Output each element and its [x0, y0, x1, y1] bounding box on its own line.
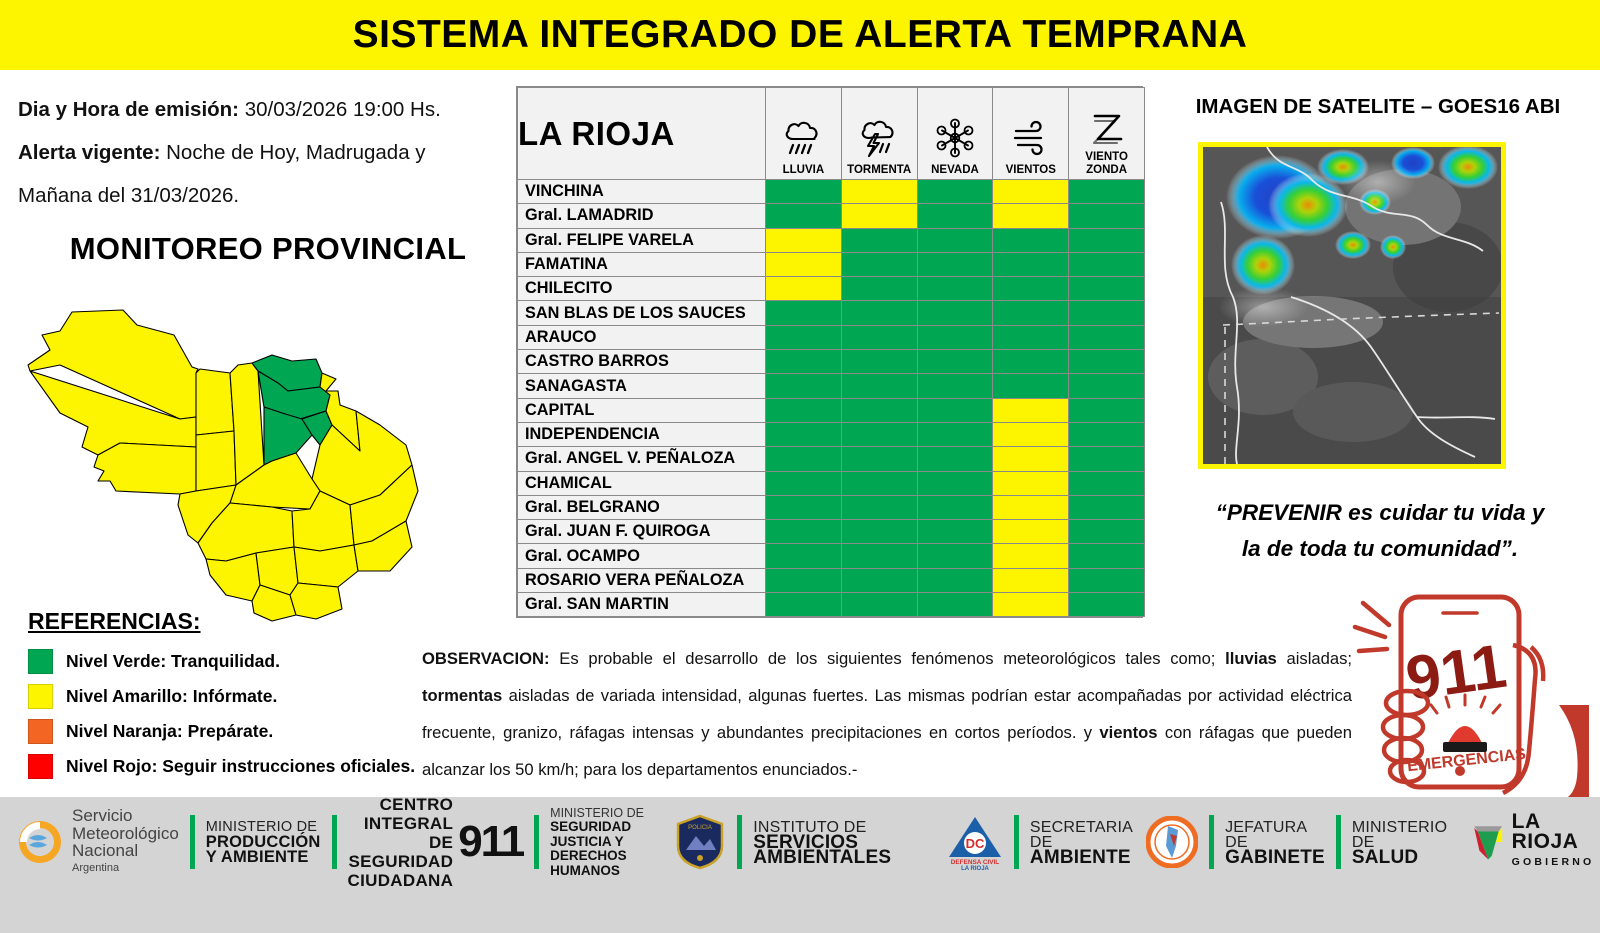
table-row: CHILECITO	[518, 277, 1145, 301]
emission-label: Dia y Hora de emisión:	[18, 98, 239, 121]
alert-cell-storm	[841, 568, 917, 592]
column-label-tormenta: TORMENTA	[847, 164, 911, 177]
legend-swatch-rojo	[28, 754, 53, 779]
la-rioja-map-svg	[20, 295, 440, 625]
cic-line-1: CENTRO INTEGRAL	[348, 795, 454, 833]
alert-cell-rain	[766, 374, 842, 398]
logo-ministerio-seguridad-justicia-ddhh: MINISTERIO DE SEGURIDAD JUSTICIA Y DEREC…	[550, 807, 660, 877]
alert-cell-wind	[993, 398, 1069, 422]
alert-cell-wind	[993, 593, 1069, 617]
alert-cell-rain	[766, 228, 842, 252]
alert-cell-snow	[917, 422, 993, 446]
smn-line-3: Nacional	[72, 842, 179, 860]
alert-cell-wind	[993, 422, 1069, 446]
msj-line-1: MINISTERIO DE	[550, 806, 660, 821]
alert-cell-wind	[993, 520, 1069, 544]
table-row: ARAUCO	[518, 325, 1145, 349]
alert-cell-rain	[766, 447, 842, 471]
legend-label-verde: Nivel Verde: Tranquilidad.	[66, 651, 280, 672]
page-title-bar: SISTEMA INTEGRADO DE ALERTA TEMPRANA	[0, 0, 1600, 70]
logo-defensa-civil-la-rioja: DC DEFENSA CIVIL LA RIOJA	[947, 807, 1003, 877]
department-name: SANAGASTA	[518, 374, 766, 398]
alert-validity-value-1: Noche de Hoy, Madrugada y	[166, 141, 425, 164]
logo-instituto-servicios-ambientales: INSTITUTO DE SERVICIOS AMBIENTALES	[753, 807, 935, 877]
alert-cell-zonda-wind	[1069, 204, 1145, 228]
defensa-civil-icon: DC DEFENSA CIVIL LA RIOJA	[947, 813, 1003, 871]
smn-line-4: Argentina	[72, 860, 179, 878]
lrg-line-1: LA RIOJA	[1512, 812, 1600, 852]
alert-cell-snow	[917, 568, 993, 592]
phone-911-icon: 911 EMERGENCIAS	[1345, 585, 1595, 800]
table-header-row: LA RIOJA	[518, 88, 1145, 180]
department-name: CAPITAL	[518, 398, 766, 422]
msj-line-3: JUSTICIA Y	[550, 835, 660, 850]
alert-cell-snow	[917, 228, 993, 252]
table-row: Gral. LAMADRID	[518, 204, 1145, 228]
rain-icon	[780, 115, 826, 161]
department-name: CASTRO BARROS	[518, 350, 766, 374]
alert-cell-storm	[841, 471, 917, 495]
logo-escudo-la-rioja	[1146, 807, 1198, 877]
la-rioja-gobierno-icon	[1469, 818, 1507, 866]
divider	[1014, 815, 1019, 869]
alert-cell-snow	[917, 495, 993, 519]
alert-cell-wind	[993, 301, 1069, 325]
alert-cell-rain	[766, 204, 842, 228]
alert-cell-wind	[993, 374, 1069, 398]
alert-cell-zonda-wind	[1069, 471, 1145, 495]
alert-cell-zonda-wind	[1069, 374, 1145, 398]
alert-cell-storm	[841, 520, 917, 544]
department-name: Gral. FELIPE VARELA	[518, 228, 766, 252]
department-name: SAN BLAS DE LOS SAUCES	[518, 301, 766, 325]
alert-cell-storm	[841, 252, 917, 276]
column-vientos: VIENTOS	[993, 88, 1069, 180]
alert-cell-zonda-wind	[1069, 398, 1145, 422]
legend-item: Nivel Rojo: Seguir instrucciones oficial…	[28, 749, 428, 784]
observation-label: OBSERVACION:	[422, 649, 550, 668]
msj-line-2: SEGURIDAD	[550, 820, 660, 835]
alert-cell-zonda-wind	[1069, 350, 1145, 374]
logo-secretaria-ambiente: SECRETARIA DE AMBIENTE	[1030, 807, 1132, 877]
alert-cell-storm	[841, 180, 917, 204]
column-viento-zonda: VIENTO ZONDA	[1069, 88, 1145, 180]
alert-cell-rain	[766, 180, 842, 204]
alert-cell-storm	[841, 495, 917, 519]
monitoreo-title: MONITOREO PROVINCIAL	[18, 231, 518, 267]
logo-ministerio-salud: MINISTERIO DE SALUD	[1352, 807, 1447, 877]
alert-cell-snow	[917, 252, 993, 276]
alert-cell-storm	[841, 422, 917, 446]
alert-cell-zonda-wind	[1069, 422, 1145, 446]
alert-cell-storm	[841, 301, 917, 325]
logo-policia-la-rioja: POLICIA	[674, 807, 726, 877]
references-title: REFERENCIAS:	[28, 608, 428, 635]
table-row: CASTRO BARROS	[518, 350, 1145, 374]
snow-icon	[932, 115, 978, 161]
alert-cell-storm	[841, 277, 917, 301]
lrg-line-2: GOBIERNO	[1512, 852, 1600, 872]
alert-cell-storm	[841, 593, 917, 617]
dc-mark: DC	[966, 836, 985, 851]
dc-sub-2: LA RIOJA	[961, 866, 989, 871]
department-name: CHILECITO	[518, 277, 766, 301]
alert-cell-rain	[766, 422, 842, 446]
alert-cell-storm	[841, 544, 917, 568]
cic-line-3: CIUDADANA	[348, 871, 454, 890]
alert-cell-zonda-wind	[1069, 495, 1145, 519]
alert-cell-storm	[841, 228, 917, 252]
divider	[534, 815, 539, 869]
emission-line: Dia y Hora de emisión: 30/03/2026 19:00 …	[18, 88, 518, 131]
alert-cell-wind	[993, 180, 1069, 204]
alert-cell-storm	[841, 350, 917, 374]
alert-cell-rain	[766, 252, 842, 276]
alert-cell-snow	[917, 277, 993, 301]
alert-cell-wind	[993, 204, 1069, 228]
references-legend: REFERENCIAS: Nivel Verde: Tranquilidad. …	[28, 608, 428, 784]
alert-cell-rain	[766, 325, 842, 349]
alert-cell-wind	[993, 471, 1069, 495]
alert-cell-rain	[766, 398, 842, 422]
department-name: Gral. OCAMPO	[518, 544, 766, 568]
alert-cell-snow	[917, 447, 993, 471]
legend-swatch-verde	[28, 649, 53, 674]
alert-cell-rain	[766, 495, 842, 519]
alert-cell-snow	[917, 350, 993, 374]
jg-line-2: GABINETE	[1225, 850, 1325, 865]
logo-jefatura-gabinete: JEFATURA DE GABINETE	[1225, 807, 1325, 877]
table-row: CAPITAL	[518, 398, 1145, 422]
alert-cell-storm	[841, 325, 917, 349]
logo-la-rioja-gobierno: LA RIOJA GOBIERNO	[1469, 807, 1600, 877]
mpa-line-3: Y AMBIENTE	[206, 850, 321, 865]
satellite-image	[1198, 142, 1506, 469]
legend-item: Nivel Verde: Tranquilidad.	[28, 644, 428, 679]
divider	[332, 815, 337, 869]
sa-line-2: AMBIENTE	[1030, 850, 1132, 865]
province-map	[20, 295, 440, 625]
department-name: Gral. JUAN F. QUIROGA	[518, 520, 766, 544]
ms-line-2: SALUD	[1352, 850, 1447, 865]
cic-911-number: 911	[458, 817, 523, 867]
table-row: CHAMICAL	[518, 471, 1145, 495]
alert-cell-snow	[917, 471, 993, 495]
table-row: SAN BLAS DE LOS SAUCES	[518, 301, 1145, 325]
legend-item: Nivel Amarillo: Infórmate.	[28, 679, 428, 714]
alert-cell-snow	[917, 593, 993, 617]
table-row: Gral. SAN MARTIN	[518, 593, 1145, 617]
alert-validity-line-2: Mañana del 31/03/2026.	[18, 174, 518, 217]
table-row: SANAGASTA	[518, 374, 1145, 398]
alert-cell-storm	[841, 374, 917, 398]
alert-cell-storm	[841, 204, 917, 228]
divider	[190, 815, 195, 869]
alert-cell-rain	[766, 520, 842, 544]
alert-cell-wind	[993, 544, 1069, 568]
sa-line-1: SECRETARIA DE	[1030, 820, 1132, 850]
legend-label-naranja: Nivel Naranja: Prepárate.	[66, 721, 273, 742]
alert-cell-zonda-wind	[1069, 544, 1145, 568]
alert-cell-rain	[766, 544, 842, 568]
table-row: Gral. ANGEL V. PEÑALOZA	[518, 447, 1145, 471]
alert-cell-zonda-wind	[1069, 180, 1145, 204]
column-label-lluvia: LLUVIA	[783, 164, 825, 177]
table-row: Gral. JUAN F. QUIROGA	[518, 520, 1145, 544]
table-row: ROSARIO VERA PEÑALOZA	[518, 568, 1145, 592]
table-row: Gral. FELIPE VARELA	[518, 228, 1145, 252]
police-badge-icon: POLICIA	[674, 814, 726, 870]
emission-info: Dia y Hora de emisión: 30/03/2026 19:00 …	[18, 88, 518, 267]
legend-label-amarillo: Nivel Amarillo: Infórmate.	[66, 686, 277, 707]
smn-logo-text: Servicio Meteorológico Nacional Argentin…	[72, 807, 179, 877]
footer: Servicio Meteorológico Nacional Argentin…	[0, 797, 1600, 933]
alert-cell-wind	[993, 447, 1069, 471]
alert-validity-value-2: Mañana del 31/03/2026.	[18, 184, 239, 207]
zonda-wind-icon	[1086, 108, 1128, 148]
table-row: VINCHINA	[518, 180, 1145, 204]
msj-line-4: DERECHOS HUMANOS	[550, 849, 660, 878]
alert-cell-rain	[766, 593, 842, 617]
alert-validity-label: Alerta vigente:	[18, 141, 160, 164]
page-title: SISTEMA INTEGRADO DE ALERTA TEMPRANA	[353, 13, 1248, 57]
jg-line-1: JEFATURA DE	[1225, 820, 1325, 850]
alert-cell-wind	[993, 495, 1069, 519]
legend-swatch-amarillo	[28, 684, 53, 709]
table-row: Gral. BELGRANO	[518, 495, 1145, 519]
alert-cell-snow	[917, 520, 993, 544]
alert-cell-snow	[917, 301, 993, 325]
alert-cell-rain	[766, 301, 842, 325]
alert-cell-snow	[917, 325, 993, 349]
smn-line-2: Meteorológico	[72, 825, 179, 843]
department-name: ARAUCO	[518, 325, 766, 349]
storm-icon	[856, 115, 902, 161]
alert-cell-rain	[766, 568, 842, 592]
emergency-number: 911	[1402, 632, 1511, 714]
department-name: Gral. ANGEL V. PEÑALOZA	[518, 447, 766, 471]
table-row: Gral. OCAMPO	[518, 544, 1145, 568]
legend-label-rojo: Nivel Rojo: Seguir instrucciones oficial…	[66, 756, 415, 777]
column-lluvia: LLUVIA	[766, 88, 842, 180]
alert-cell-zonda-wind	[1069, 568, 1145, 592]
department-name: Gral. BELGRANO	[518, 495, 766, 519]
alert-cell-storm	[841, 398, 917, 422]
alert-cell-wind	[993, 252, 1069, 276]
police-badge-label: POLICIA	[688, 825, 712, 831]
department-name: Gral. SAN MARTIN	[518, 593, 766, 617]
province-name-header: LA RIOJA	[518, 88, 766, 180]
isa-line-2: SERVICIOS AMBIENTALES	[753, 835, 935, 865]
observation-block: OBSERVACION: Es probable el desarrollo d…	[422, 640, 1352, 788]
table-row: INDEPENDENCIA	[518, 422, 1145, 446]
column-label-viento-zonda: VIENTO ZONDA	[1085, 151, 1128, 176]
alert-cell-zonda-wind	[1069, 228, 1145, 252]
alert-cell-wind	[993, 277, 1069, 301]
divider	[737, 815, 742, 869]
emission-value: 30/03/2026 19:00 Hs.	[245, 98, 441, 121]
department-name: FAMATINA	[518, 252, 766, 276]
prevention-quote: “PREVENIR es cuidar tu vida y la de toda…	[1160, 495, 1600, 567]
wind-icon	[1008, 115, 1054, 161]
department-name: ROSARIO VERA PEÑALOZA	[518, 568, 766, 592]
department-name: VINCHINA	[518, 180, 766, 204]
alert-cell-wind	[993, 568, 1069, 592]
alert-cell-rain	[766, 350, 842, 374]
legend-item: Nivel Naranja: Prepárate.	[28, 714, 428, 749]
satellite-image-svg	[1203, 147, 1501, 464]
column-label-vientos: VIENTOS	[1006, 164, 1056, 177]
department-name: INDEPENDENCIA	[518, 422, 766, 446]
quote-line-1: “PREVENIR es cuidar tu vida y	[1160, 495, 1600, 531]
column-label-nevada: NEVADA	[931, 164, 979, 177]
department-name: CHAMICAL	[518, 471, 766, 495]
alert-cell-zonda-wind	[1069, 447, 1145, 471]
logo-servicio-meteorologico-nacional: Servicio Meteorológico Nacional Argentin…	[14, 807, 179, 877]
divider	[1209, 815, 1214, 869]
alert-cell-zonda-wind	[1069, 252, 1145, 276]
alert-poster: SISTEMA INTEGRADO DE ALERTA TEMPRANA Dia…	[0, 0, 1600, 933]
alert-cell-zonda-wind	[1069, 325, 1145, 349]
smn-line-1: Servicio	[72, 807, 179, 825]
emergency-911-graphic: 911 EMERGENCIAS	[1345, 585, 1595, 800]
alert-table: LA RIOJA	[516, 86, 1143, 618]
alert-cell-wind	[993, 325, 1069, 349]
department-name: Gral. LAMADRID	[518, 204, 766, 228]
quote-line-2: la de toda tu comunidad”.	[1160, 531, 1600, 567]
alert-validity-line: Alerta vigente: Noche de Hoy, Madrugada …	[18, 131, 518, 174]
dc-sub-1: DEFENSA CIVIL	[951, 859, 1000, 866]
alert-cell-rain	[766, 471, 842, 495]
logo-centro-integral-seguridad-ciudadana: CENTRO INTEGRAL DE SEGURIDAD CIUDADANA 9…	[348, 807, 524, 877]
la-rioja-shield-icon	[1146, 816, 1198, 868]
logo-ministerio-produccion-ambiente: MINISTERIO DE PRODUCCIÓN Y AMBIENTE	[206, 807, 321, 877]
smn-logo-icon	[14, 816, 66, 868]
alert-cell-zonda-wind	[1069, 301, 1145, 325]
alert-cell-wind	[993, 228, 1069, 252]
alert-cell-zonda-wind	[1069, 277, 1145, 301]
table-row: FAMATINA	[518, 252, 1145, 276]
table-body: VINCHINAGral. LAMADRIDGral. FELIPE VAREL…	[518, 180, 1145, 617]
alert-cell-snow	[917, 398, 993, 422]
alert-cell-wind	[993, 350, 1069, 374]
alert-cell-snow	[917, 374, 993, 398]
ms-line-1: MINISTERIO DE	[1352, 820, 1447, 850]
cic-line-2: DE SEGURIDAD	[348, 833, 454, 871]
satellite-title: IMAGEN DE SATELITE – GOES16 ABI	[1163, 95, 1593, 119]
column-nevada: NEVADA	[917, 88, 993, 180]
legend-swatch-naranja	[28, 719, 53, 744]
alert-cell-snow	[917, 180, 993, 204]
observation-text: OBSERVACION: Es probable el desarrollo d…	[422, 640, 1352, 788]
alert-cell-snow	[917, 544, 993, 568]
la-rioja-gobierno-text: LA RIOJA GOBIERNO	[1512, 812, 1600, 872]
alert-cell-rain	[766, 277, 842, 301]
footer-logos: Servicio Meteorológico Nacional Argentin…	[0, 803, 1600, 881]
divider	[1336, 815, 1341, 869]
alert-cell-zonda-wind	[1069, 593, 1145, 617]
column-tormenta: TORMENTA	[841, 88, 917, 180]
alert-cell-snow	[917, 204, 993, 228]
alert-cell-storm	[841, 447, 917, 471]
province-name: LA RIOJA	[518, 115, 675, 152]
alert-cell-zonda-wind	[1069, 520, 1145, 544]
